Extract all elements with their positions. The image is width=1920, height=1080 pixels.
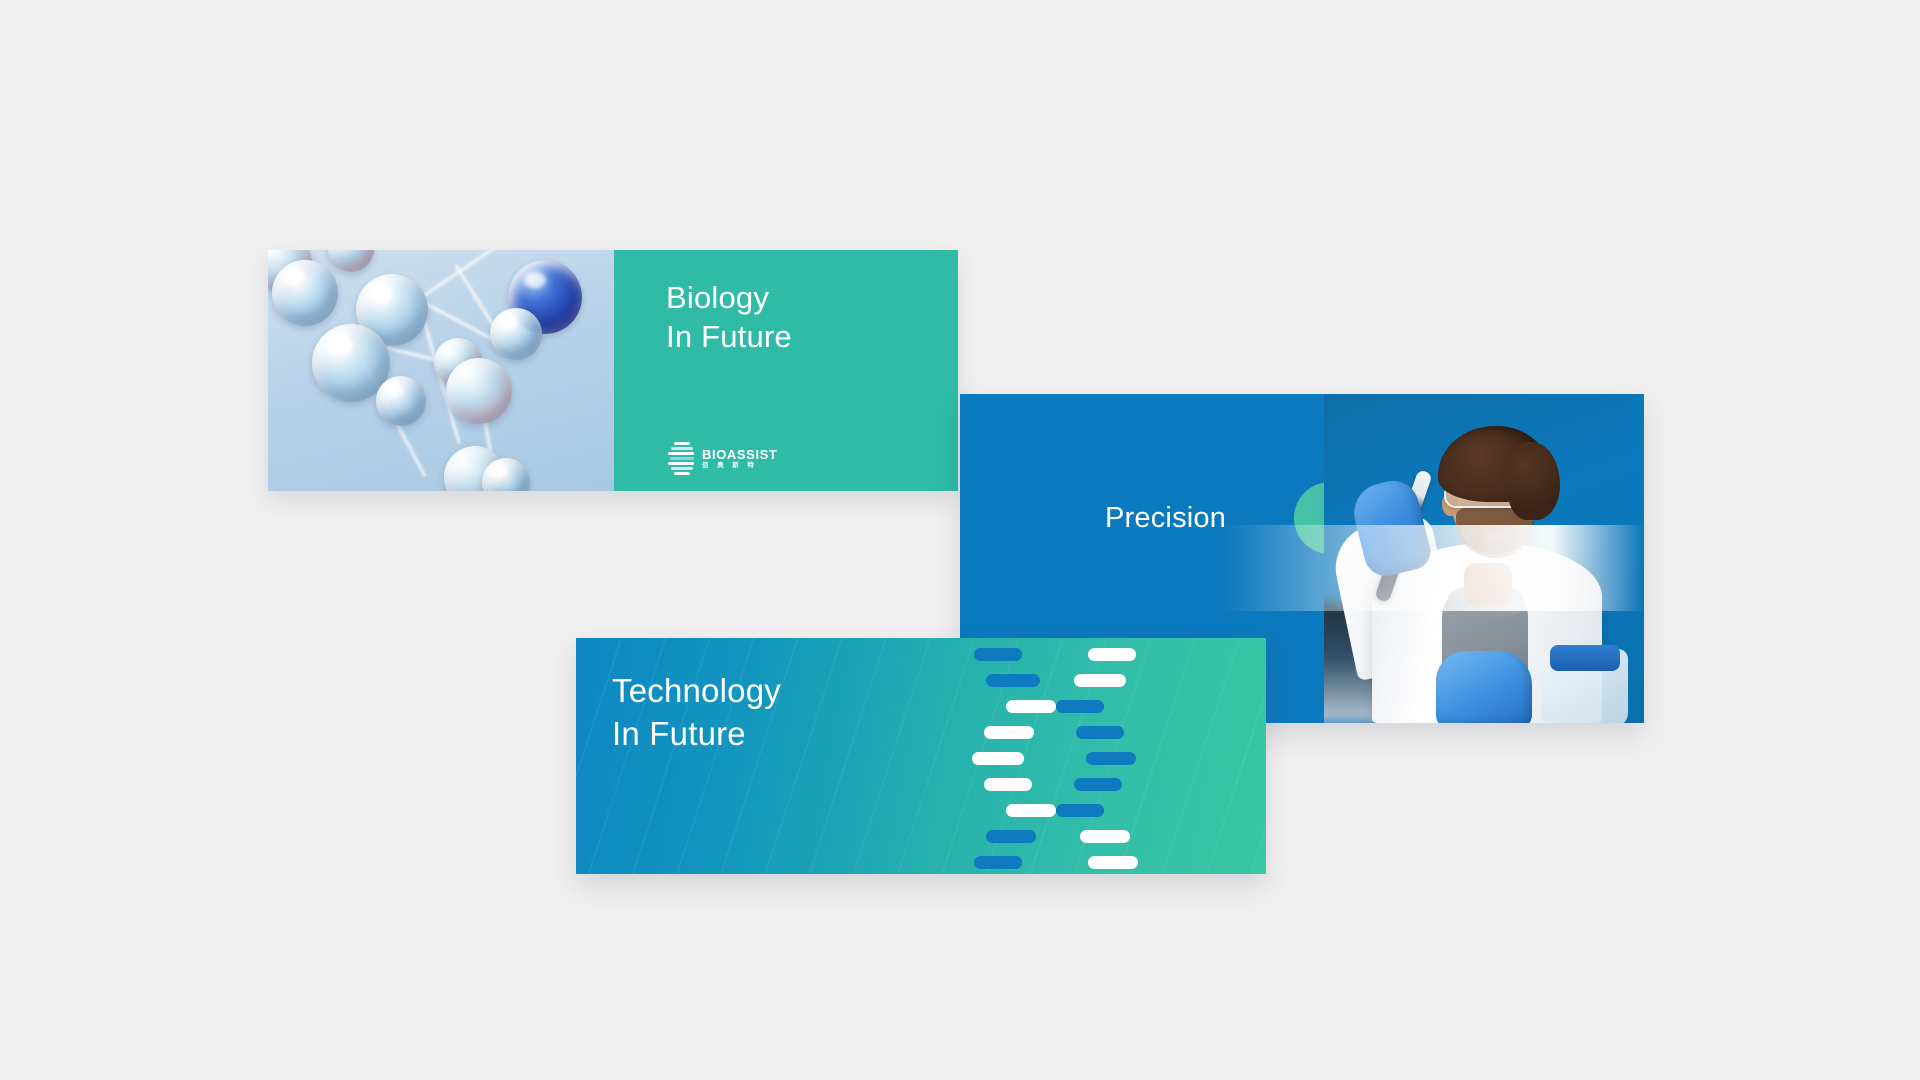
logo-bar-6 [674,472,690,475]
logo-bar-5 [671,467,693,470]
gel-bar-16 [974,856,1022,869]
logo-wordmark: BIOASSIST 佰 奥 斯 特 [702,448,777,470]
molecule-sphere-5 [490,308,542,360]
gel-bar-0 [974,648,1022,661]
molecule-image [268,250,614,491]
screenshot-stage: Biology In Future BIOASSIST 佰 奥 斯 特 Prec… [0,0,1920,1080]
bottle-cap [1550,645,1620,671]
logo-bar-4 [668,462,694,465]
gel-bar-17 [1088,856,1138,869]
bioassist-bars-logo-icon [668,442,694,475]
technology-banner-card[interactable]: Technology In Future [576,638,1266,874]
dna-gel-graphic [972,648,1162,868]
photo-white-wash [1224,525,1644,611]
biology-text-panel: Biology In Future BIOASSIST 佰 奥 斯 特 [614,250,958,491]
logo-bar-1 [671,447,693,450]
gel-bar-6 [984,726,1034,739]
bioassist-logo[interactable]: BIOASSIST 佰 奥 斯 特 [668,442,777,475]
gel-bar-7 [1076,726,1124,739]
molecule-sphere-8 [376,376,426,426]
logo-bar-0 [674,442,690,445]
logo-chinese-text: 佰 奥 斯 特 [702,463,777,470]
biology-title: Biology In Future [666,278,792,357]
gel-bar-3 [1074,674,1126,687]
gel-bar-5 [1056,700,1104,713]
logo-bar-2 [668,452,694,455]
gel-bar-9 [1086,752,1136,765]
gel-bar-4 [1006,700,1056,713]
precision-title: Precision [1105,502,1226,535]
right-glove [1436,651,1532,723]
logo-name-text: BIOASSIST [702,448,777,461]
gel-bar-2 [986,674,1040,687]
gel-bar-15 [1080,830,1130,843]
molecule-sphere-7 [446,358,512,424]
technology-title: Technology In Future [612,670,781,756]
molecule-sphere-11 [328,250,374,272]
logo-bar-3 [670,457,694,460]
gel-bar-11 [1074,778,1122,791]
gel-bar-1 [1088,648,1136,661]
biology-banner-card[interactable]: Biology In Future BIOASSIST 佰 奥 斯 特 [268,250,958,491]
gel-bar-14 [986,830,1036,843]
molecule-sphere-1 [272,260,338,326]
gel-bar-10 [984,778,1032,791]
molecule-bond-1 [417,250,518,301]
gel-bar-8 [972,752,1024,765]
gel-bar-13 [1056,804,1104,817]
gel-bar-12 [1006,804,1056,817]
